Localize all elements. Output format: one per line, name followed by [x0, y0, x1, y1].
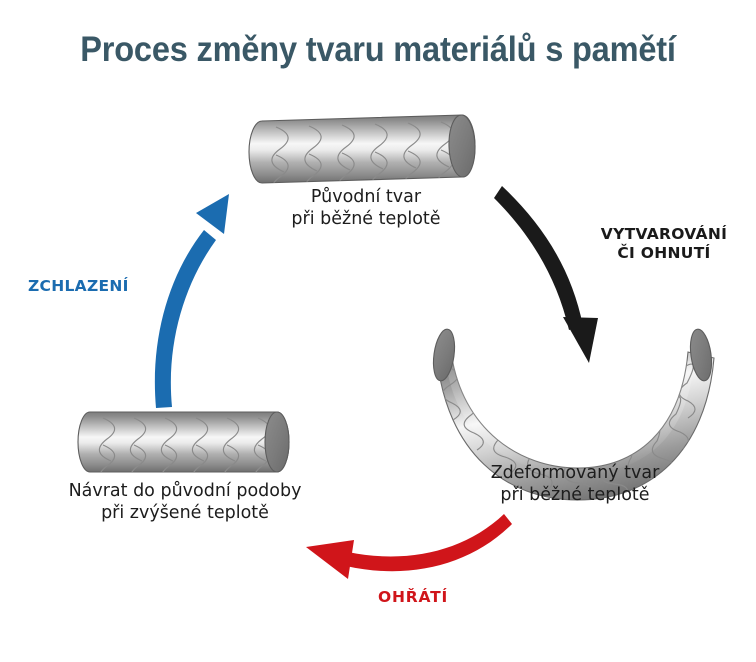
caption-line-2: při běžné teplotě	[236, 208, 496, 230]
cooling-label-line-1: ZCHLAZENÍ	[28, 277, 129, 295]
deformation-arrow	[494, 186, 598, 363]
deformation-arrow-label: VYTVAROVÁNÍ ČI OHNUTÍ	[584, 225, 744, 263]
recovered-shape-rod	[78, 412, 289, 488]
diagram-graphics	[0, 0, 756, 662]
caption-deformed-shape: Zdeformovaný tvar při běžné teplotě	[425, 462, 725, 506]
caption-line-2: při zvýšené teplotě	[40, 502, 330, 524]
heating-label-line-1: OHŘÁTÍ	[378, 588, 448, 606]
rod-body	[249, 115, 475, 183]
heating-arrow-head	[306, 540, 354, 579]
cooling-arrow	[155, 194, 229, 408]
heating-arrow	[306, 514, 512, 579]
cooling-arrow-label: ZCHLAZENÍ	[28, 277, 129, 296]
cooling-arrow-shaft	[155, 230, 216, 408]
caption-line-2: při běžné teplotě	[425, 484, 725, 506]
deformation-arrow-head	[563, 317, 598, 363]
deformation-label-line-2: ČI OHNUTÍ	[617, 244, 710, 262]
diagram-canvas: Proces změny tvaru materiálů s pamětí	[0, 0, 756, 662]
deformation-arrow-shaft	[494, 186, 583, 330]
caption-line-1: Zdeformovaný tvar	[425, 462, 725, 484]
heating-arrow-shaft	[346, 514, 512, 571]
caption-line-1: Návrat do původní podoby	[40, 480, 330, 502]
caption-line-1: Původní tvar	[236, 186, 496, 208]
heating-arrow-label: OHŘÁTÍ	[378, 588, 448, 607]
cooling-arrow-head	[196, 194, 229, 234]
rod-end-cap	[265, 412, 289, 472]
deformation-label-line-1: VYTVAROVÁNÍ	[601, 225, 727, 243]
caption-original-shape: Původní tvar při běžné teplotě	[236, 186, 496, 230]
caption-recovered-shape: Návrat do původní podoby při zvýšené tep…	[40, 480, 330, 524]
